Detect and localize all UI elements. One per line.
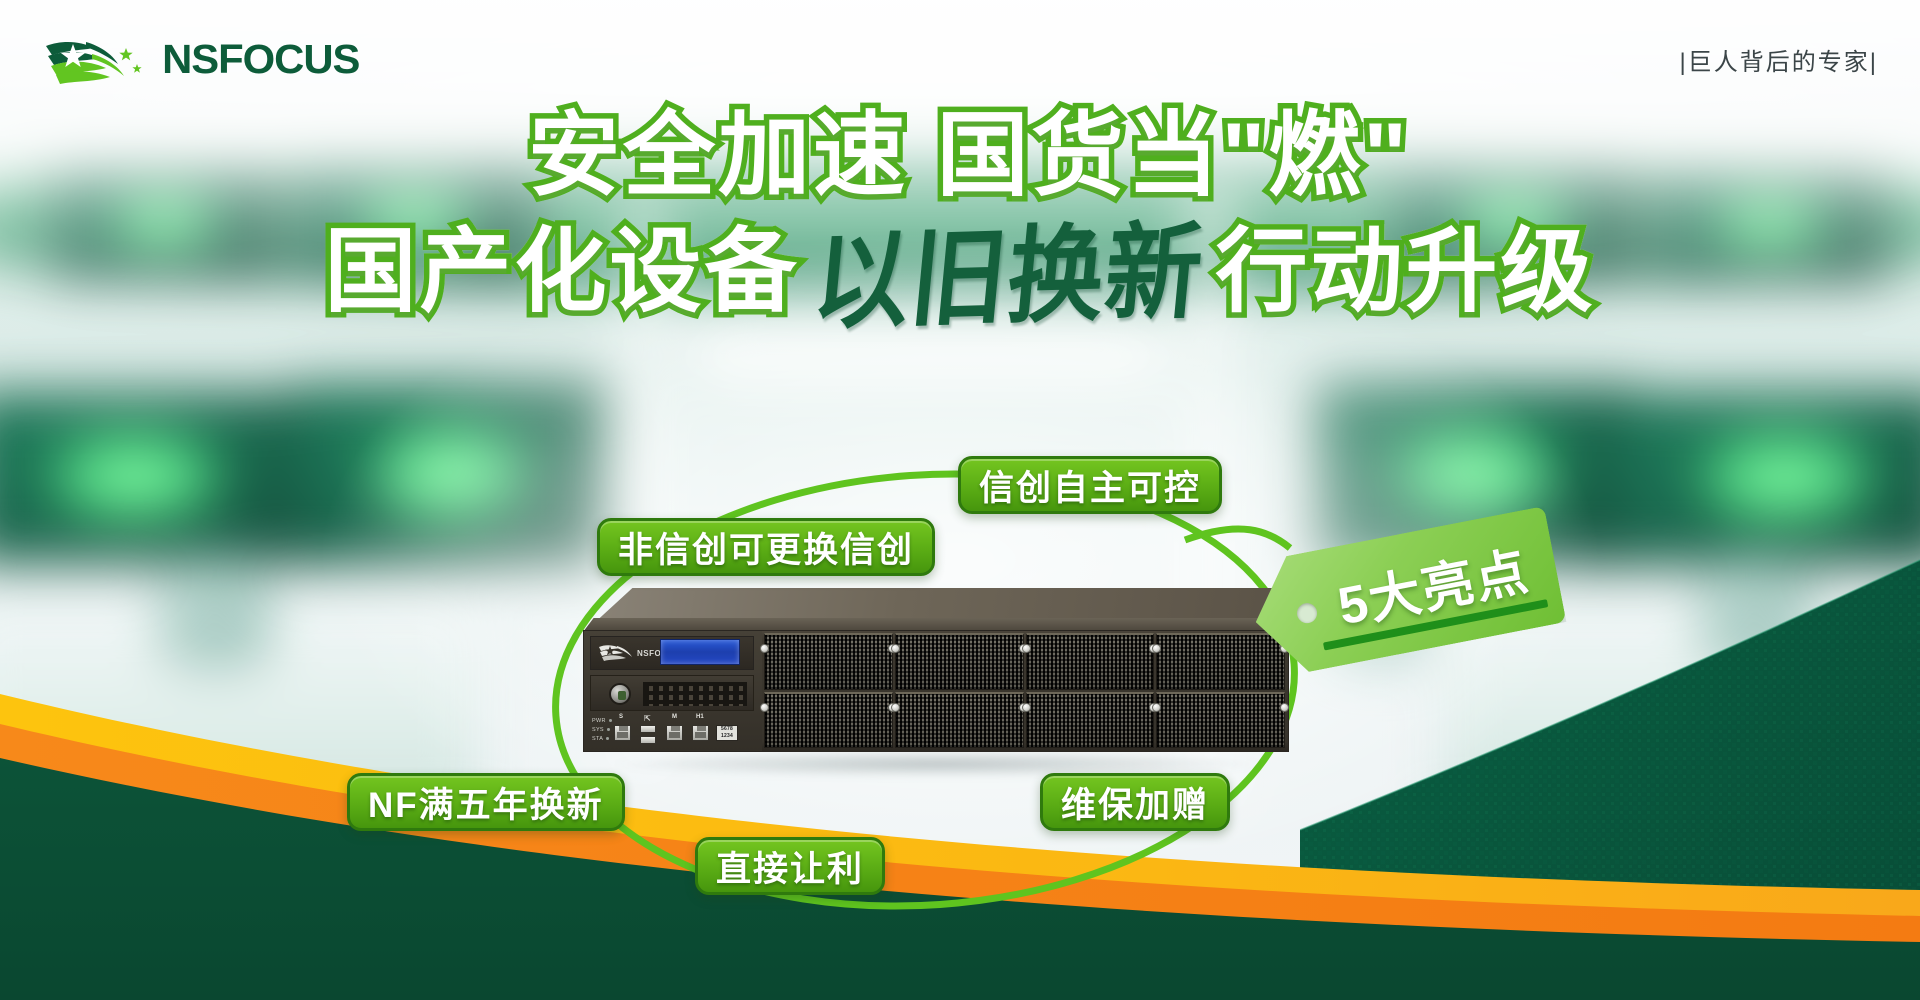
headline-line-1-text: 安全加速 国货当"燃" bbox=[528, 105, 1410, 207]
mesh-panel bbox=[1156, 692, 1285, 749]
dip-top-digits: 5678 bbox=[717, 726, 737, 733]
headline-line-2-suffix: 行动升级 bbox=[1216, 224, 1596, 322]
server-lcd-display bbox=[660, 639, 740, 665]
mesh-panel bbox=[895, 633, 1024, 690]
screw-icon bbox=[1280, 703, 1289, 712]
screw-icon bbox=[1152, 644, 1161, 653]
headline-line-1: 安全加速 国货当"燃" bbox=[18, 108, 1920, 206]
nsfocus-logo[interactable]: NSFOCUS bbox=[42, 34, 357, 84]
port-label-h1: H1 bbox=[696, 714, 704, 720]
mesh-panel bbox=[895, 692, 1024, 749]
server-io-panel: PWR SYS STA S ⇱ M H1 5678 1234 bbox=[588, 715, 760, 751]
server-front-face: NSFOCUS PWR SYS STA S ⇱ bbox=[583, 630, 1289, 752]
brand-tagline: |巨人背后的专家| bbox=[1680, 42, 1878, 77]
port-label-m: M bbox=[672, 714, 677, 720]
server-status-leds: PWR SYS STA bbox=[592, 717, 612, 744]
server-nsfocus-emblem-icon bbox=[597, 642, 633, 664]
usb-icon: ⇱ bbox=[644, 714, 651, 723]
usb-port-top[interactable] bbox=[640, 725, 656, 733]
drive-bay-lock-icon[interactable] bbox=[609, 683, 631, 705]
server-control-section: NSFOCUS PWR SYS STA S ⇱ bbox=[584, 631, 762, 751]
headline-line-2-prefix: 国产化设备 bbox=[324, 224, 799, 322]
screw-icon bbox=[891, 703, 900, 712]
mesh-panel bbox=[764, 692, 893, 749]
rj45-port-h1[interactable] bbox=[692, 725, 709, 741]
screw-icon bbox=[1022, 644, 1031, 653]
dip-switch-block[interactable]: 5678 1234 bbox=[716, 725, 738, 741]
rj45-port-s[interactable] bbox=[614, 725, 631, 741]
nsfocus-flag-star-emblem bbox=[42, 34, 150, 84]
port-label-s: S bbox=[619, 714, 623, 720]
screw-icon bbox=[760, 703, 769, 712]
feature-label-direct-discount[interactable]: 直接让利 bbox=[695, 837, 885, 895]
feature-label-nf-five-year-renew[interactable]: NF满五年换新 bbox=[347, 773, 625, 831]
mesh-panel bbox=[1026, 692, 1155, 749]
feature-label-xinchuang-autonomous[interactable]: 信创自主可控 bbox=[958, 456, 1222, 514]
screw-icon bbox=[1022, 703, 1031, 712]
mesh-panel bbox=[1026, 633, 1155, 690]
screw-icon bbox=[760, 644, 769, 653]
drive-bay-vent-grille bbox=[643, 682, 747, 706]
promo-banner: NSFOCUS |巨人背后的专家| 安全加速 国货当"燃" 国产化设备 以旧换新… bbox=[0, 0, 1920, 1000]
mesh-panel bbox=[764, 633, 893, 690]
led-pwr: PWR bbox=[592, 718, 612, 724]
rj45-port-m[interactable] bbox=[666, 725, 683, 741]
logo-wordmark: NSFOCUS bbox=[162, 39, 359, 80]
led-sys: SYS bbox=[592, 727, 610, 733]
screw-icon bbox=[1152, 703, 1161, 712]
headline-block: 安全加速 国货当"燃" 国产化设备 以旧换新 行动升级 bbox=[0, 108, 1920, 321]
server-drive-bay bbox=[590, 675, 754, 711]
server-mesh-panel-grid bbox=[764, 633, 1285, 748]
headline-line-2: 国产化设备 以旧换新 行动升级 bbox=[0, 220, 1920, 322]
feature-label-non-xinchuang-replace[interactable]: 非信创可更换信创 bbox=[597, 518, 935, 576]
headline-brush-calligraphy: 以旧换新 bbox=[800, 215, 1216, 338]
rack-mount-security-appliance: NSFOCUS PWR SYS STA S ⇱ bbox=[553, 588, 1293, 760]
led-sta: STA bbox=[592, 736, 609, 742]
usb-port-bottom[interactable] bbox=[640, 736, 656, 744]
dip-bottom-digits: 1234 bbox=[717, 733, 737, 740]
screw-icon bbox=[891, 644, 900, 653]
feature-label-maintenance-bonus[interactable]: 维保加赠 bbox=[1040, 773, 1230, 831]
